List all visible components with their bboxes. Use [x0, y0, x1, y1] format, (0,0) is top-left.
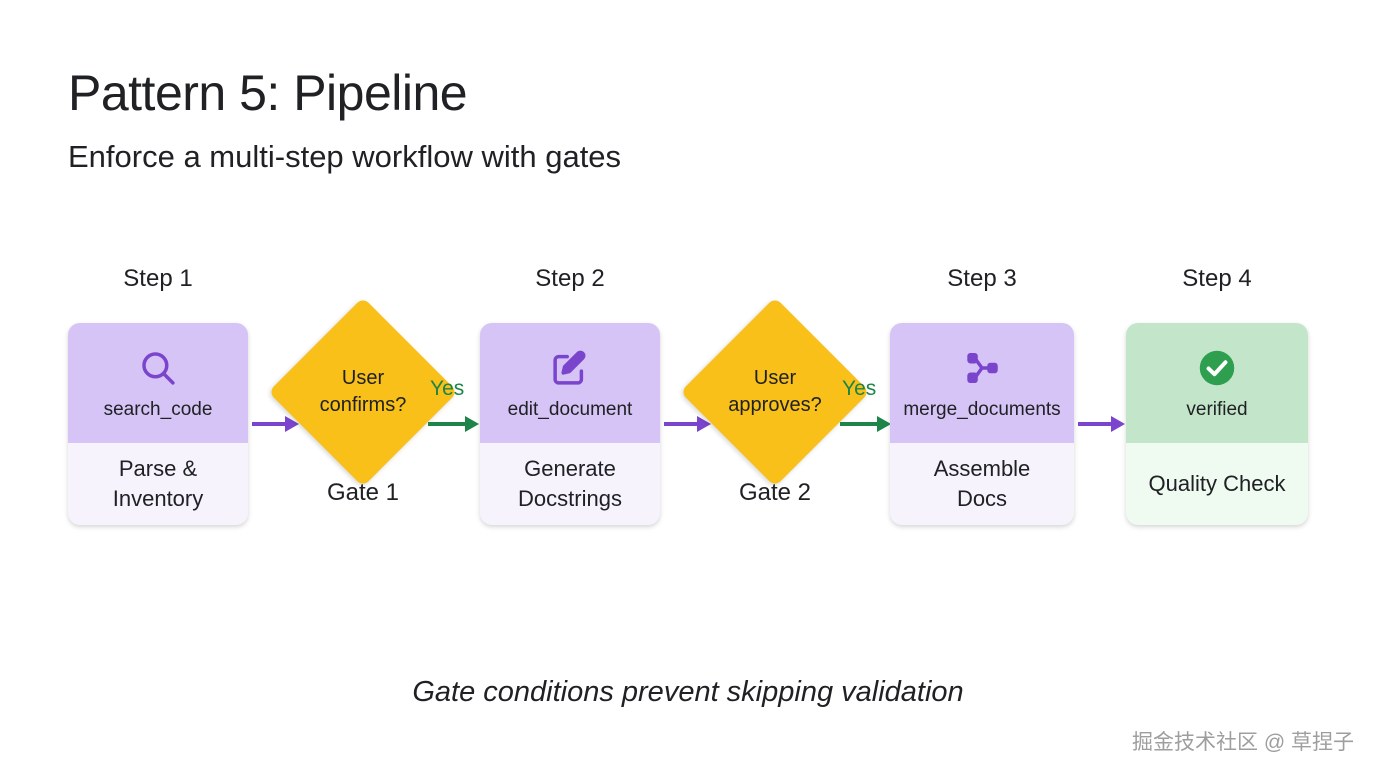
step-card-header-1: search_code	[68, 323, 248, 443]
connector-label-yes-2: Yes	[842, 377, 876, 401]
step-card-4[interactable]: verified Quality Check	[1126, 323, 1308, 525]
gate-caption-2: Gate 2	[688, 479, 862, 507]
check-circle-icon	[1195, 345, 1239, 391]
step-label-4: Step 4	[1126, 265, 1308, 293]
gate-question-line: approves?	[728, 392, 821, 419]
step-desc-line: Docstrings	[518, 484, 622, 514]
gate-question-line: User	[342, 365, 384, 392]
page-subtitle: Enforce a multi-step workflow with gates	[68, 139, 621, 175]
step-desc-line: Assemble	[934, 454, 1031, 484]
step-desc-2: Generate Docstrings	[480, 443, 660, 525]
connector-gate1-step2	[428, 413, 480, 435]
watermark: 掘金技术社区 @ 草捏子	[1132, 726, 1354, 756]
gate-question-1: User confirms?	[296, 325, 430, 459]
step-desc-line: Inventory	[113, 484, 204, 514]
page-title: Pattern 5: Pipeline	[68, 64, 467, 122]
gate-question-2: User approves?	[708, 325, 842, 459]
step-tool-2: edit_document	[508, 399, 633, 421]
step-label-2: Step 2	[480, 265, 660, 293]
step-label-1: Step 1	[68, 265, 248, 293]
step-card-3[interactable]: merge_documents Assemble Docs	[890, 323, 1074, 525]
step-card-1[interactable]: search_code Parse & Inventory	[68, 323, 248, 525]
step-card-2[interactable]: edit_document Generate Docstrings	[480, 323, 660, 525]
diagram-caption: Gate conditions prevent skipping validat…	[0, 676, 1376, 709]
merge-icon	[961, 345, 1003, 391]
step-desc-line: Quality Check	[1149, 469, 1286, 499]
step-label-3: Step 3	[890, 265, 1074, 293]
step-card-header-2: edit_document	[480, 323, 660, 443]
step-tool-3: merge_documents	[903, 399, 1060, 421]
step-desc-line: Docs	[957, 484, 1007, 514]
step-tool-1: search_code	[104, 399, 213, 421]
gate-caption-1: Gate 1	[276, 479, 450, 507]
step-desc-3: Assemble Docs	[890, 443, 1074, 525]
edit-document-icon	[549, 345, 591, 391]
step-card-header-3: merge_documents	[890, 323, 1074, 443]
step-desc-line: Parse &	[119, 454, 197, 484]
search-icon	[137, 345, 179, 391]
connector-step3-step4	[1078, 413, 1126, 435]
gate-question-line: confirms?	[320, 392, 407, 419]
step-card-header-4: verified	[1126, 323, 1308, 443]
step-desc-1: Parse & Inventory	[68, 443, 248, 525]
connector-gate2-step3	[840, 413, 892, 435]
step-desc-4: Quality Check	[1126, 443, 1308, 525]
gate-question-line: User	[754, 365, 796, 392]
pipeline-diagram: Step 1 search_code Parse & Inventory	[0, 265, 1376, 555]
step-desc-line: Generate	[524, 454, 616, 484]
connector-label-yes-1: Yes	[430, 377, 464, 401]
step-tool-4: verified	[1186, 399, 1247, 421]
